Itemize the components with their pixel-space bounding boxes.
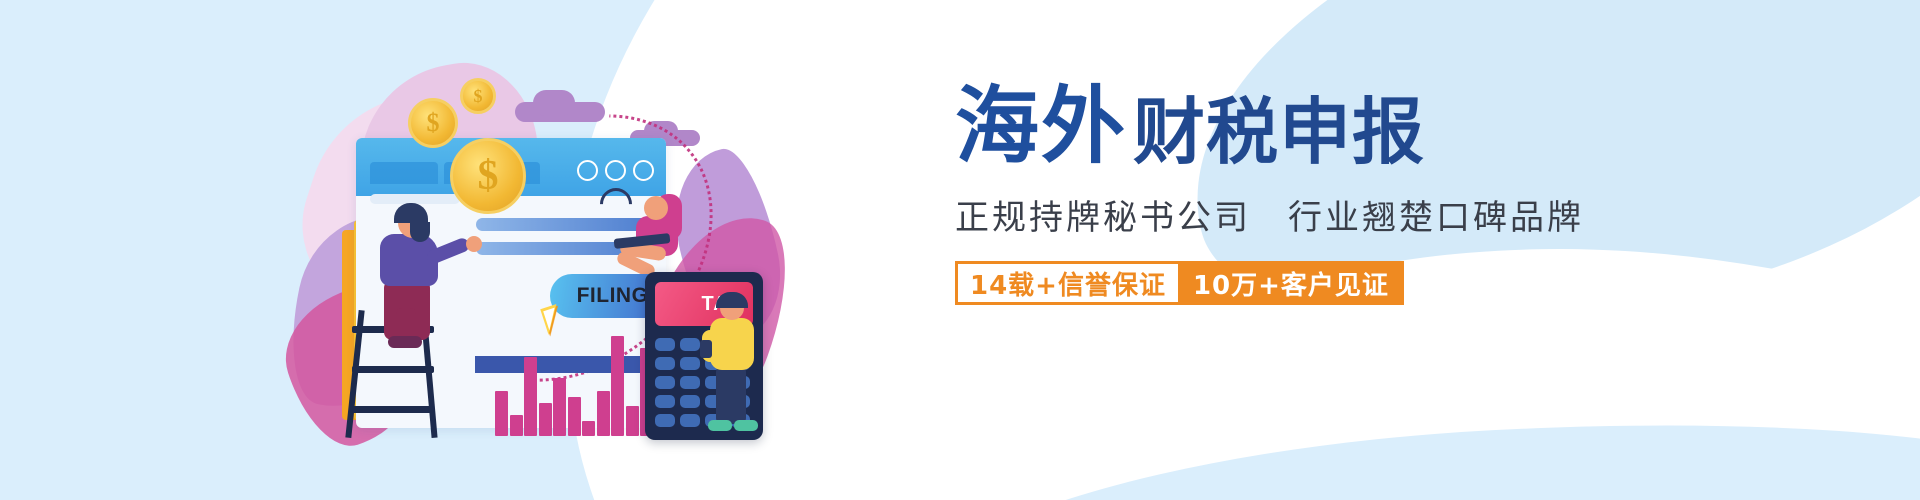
coin-icon: $ bbox=[450, 138, 526, 214]
badge-row: 14载+信誉保证 10万+客户见证 bbox=[955, 261, 1715, 305]
illustration: $ $ $ FILING TAX bbox=[300, 60, 760, 440]
calculator-key[interactable] bbox=[680, 395, 700, 408]
ladder-step bbox=[352, 406, 434, 413]
person-shoe bbox=[734, 420, 758, 431]
man-on-ladder bbox=[374, 208, 452, 338]
browser-tab[interactable] bbox=[370, 162, 438, 184]
chart-bar bbox=[539, 403, 552, 436]
calculator-key[interactable] bbox=[680, 357, 700, 370]
person-beard bbox=[410, 222, 430, 242]
chart-bar bbox=[524, 357, 537, 436]
person-head bbox=[644, 196, 668, 220]
calculator-key[interactable] bbox=[655, 395, 675, 408]
chart-bar bbox=[597, 391, 610, 436]
chart-bar bbox=[495, 391, 508, 436]
calculator-key[interactable] bbox=[655, 376, 675, 389]
status-badge-customers: 10万+客户见证 bbox=[1178, 261, 1404, 305]
ladder-step bbox=[352, 366, 434, 373]
headline: 海外 财税申报 bbox=[955, 84, 1715, 168]
subheadline: 正规持牌秘书公司 行业翘楚口碑品牌 bbox=[955, 190, 1715, 239]
man-with-phone bbox=[704, 296, 762, 436]
coin-icon: $ bbox=[460, 78, 496, 114]
calculator-key[interactable] bbox=[680, 338, 700, 351]
calculator-key[interactable] bbox=[655, 414, 675, 427]
chart-bar bbox=[568, 397, 581, 436]
copy-block: 海外 财税申报 正规持牌秘书公司 行业翘楚口碑品牌 14载+信誉保证 10万+客… bbox=[955, 84, 1715, 305]
chart-bar bbox=[582, 421, 595, 436]
coin-icon: $ bbox=[408, 98, 458, 148]
calculator-key[interactable] bbox=[680, 376, 700, 389]
calculator-key[interactable] bbox=[655, 357, 675, 370]
phone-icon bbox=[700, 340, 712, 358]
person-legs bbox=[716, 366, 746, 424]
chart-bar bbox=[510, 415, 523, 436]
chart-bar bbox=[611, 336, 624, 436]
person-shoe bbox=[708, 420, 732, 431]
chart-bar bbox=[626, 406, 639, 436]
headline-secondary: 财税申报 bbox=[1133, 96, 1425, 168]
person-shoe bbox=[388, 336, 422, 348]
calculator-key[interactable] bbox=[680, 414, 700, 427]
calculator-key[interactable] bbox=[655, 338, 675, 351]
chart-bar bbox=[553, 378, 566, 436]
headline-primary: 海外 bbox=[955, 84, 1127, 168]
status-badge-years: 14载+信誉保证 bbox=[955, 261, 1178, 305]
banner-root: $ $ $ FILING TAX bbox=[0, 0, 1920, 500]
person-hand bbox=[466, 236, 482, 252]
